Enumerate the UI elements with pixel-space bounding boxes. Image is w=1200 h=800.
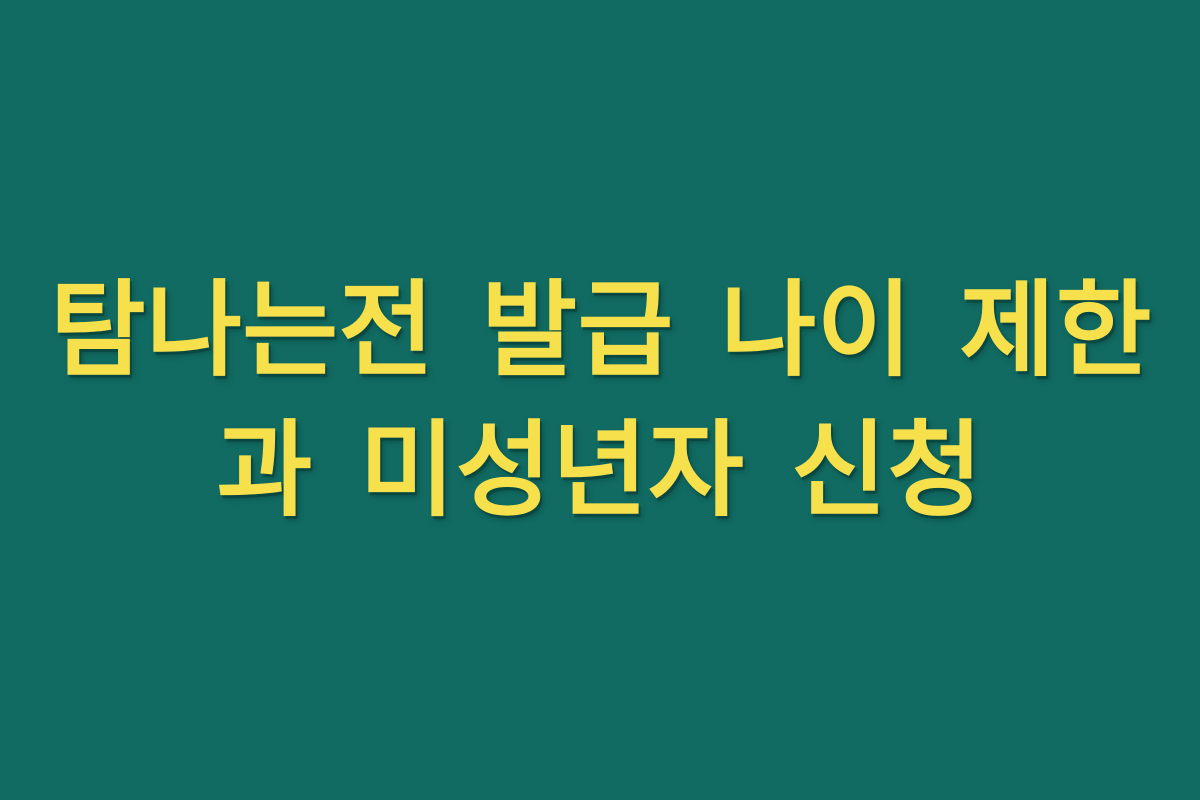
headline-line-1: 탐나는전 발급 나이 제한 [50, 260, 1150, 400]
headline-line-2: 과 미성년자 신청 [50, 400, 1150, 540]
banner-canvas: 탐나는전 발급 나이 제한 과 미성년자 신청 [0, 0, 1200, 800]
headline-block: 탐나는전 발급 나이 제한 과 미성년자 신청 [50, 260, 1150, 540]
